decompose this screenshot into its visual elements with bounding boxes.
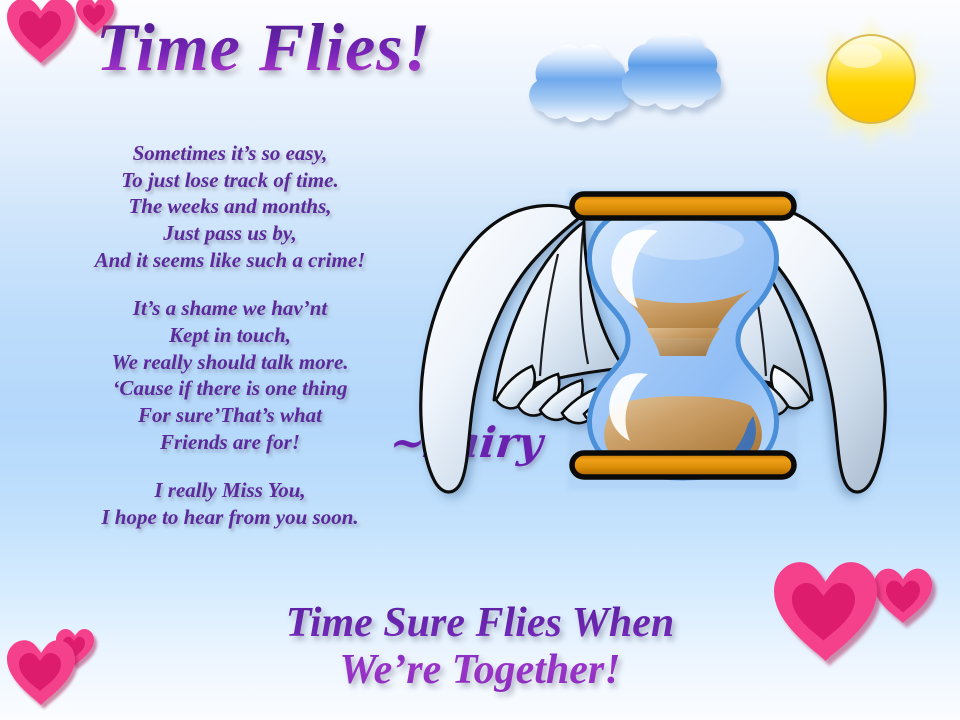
poem-line: For sure’That’s what: [30, 402, 430, 429]
cloud-pair-icon: [505, 20, 745, 140]
poem-line: I hope to hear from you soon.: [30, 504, 430, 531]
cloud-left-icon: [529, 44, 631, 122]
poem-line: Just pass us by,: [30, 220, 430, 247]
poem-line: The weeks and months,: [30, 193, 430, 220]
winged-hourglass-icon: [408, 178, 898, 508]
poem-line: Sometimes it’s so easy,: [30, 140, 430, 167]
heart-small-icon: [874, 569, 932, 623]
poem-line: To just lose track of time.: [30, 167, 430, 194]
heart-pair-top-left-icon: [0, 0, 110, 90]
poem-line: And it seems like such a crime!: [30, 247, 430, 274]
page-title: Time Flies!: [96, 8, 431, 87]
poem-line: We really should talk more.: [30, 349, 430, 376]
heart-large-icon: [7, 640, 75, 705]
poem-line: I really Miss You,: [30, 477, 430, 504]
heart-pair-bottom-left-icon: [4, 630, 114, 720]
heart-pair-bottom-right-icon: [766, 545, 956, 705]
poem-line: Kept in touch,: [30, 322, 430, 349]
hourglass-cap-top: [572, 194, 794, 218]
poem-stanza-3: I really Miss You, I hope to hear from y…: [30, 477, 430, 530]
poem-line: ‘Cause if there is one thing: [30, 375, 430, 402]
poem-line: It’s a shame we hav’nt: [30, 295, 430, 322]
poem-body: Sometimes it’s so easy, To just lose tra…: [30, 140, 430, 531]
cloud-right-icon: [622, 33, 721, 110]
heart-large-icon: [7, 0, 75, 63]
heart-large-icon: [774, 562, 877, 661]
poem-stanza-1: Sometimes it’s so easy, To just lose tra…: [30, 140, 430, 273]
sun-icon: [786, 6, 956, 156]
greeting-card: Time Flies! Sometimes it’s so easy, To j…: [0, 0, 960, 720]
poem-line: Friends are for!: [30, 429, 430, 456]
heart-small-icon: [76, 0, 114, 33]
poem-stanza-2: It’s a shame we hav’nt Kept in touch, We…: [30, 295, 430, 455]
hourglass-cap-bottom: [572, 453, 794, 477]
